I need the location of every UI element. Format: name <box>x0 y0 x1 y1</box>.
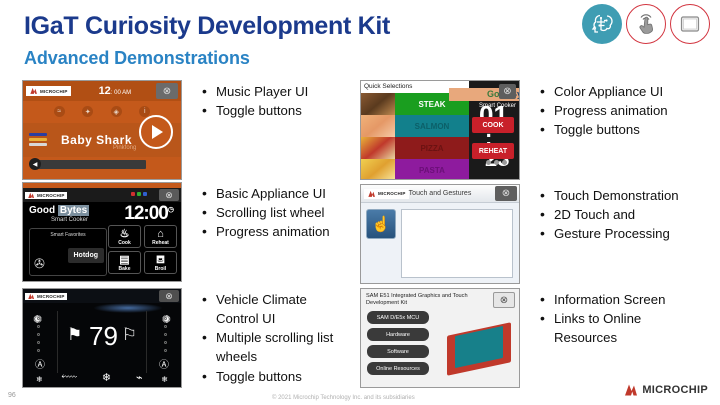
copyright-notice: © 2021 Microchip Technology Inc. and its… <box>272 395 415 401</box>
list-item: Basic Appliance UI <box>200 184 330 203</box>
status-dots <box>131 192 147 196</box>
grill-icon: ⛾ <box>156 255 165 266</box>
list-item-label: PIZZA <box>395 137 469 159</box>
cook-button[interactable]: COOK <box>472 117 514 133</box>
broil-tile[interactable]: ⛾Broil <box>144 251 177 274</box>
hotdog-icon: ✇ <box>34 256 45 272</box>
defrost-icon[interactable]: ❄ <box>102 371 111 384</box>
volume-slider[interactable]: ◀ <box>31 160 146 169</box>
list-item[interactable]: SALMON <box>361 115 469 137</box>
auto-left-icon[interactable]: Ⓐ <box>35 356 45 371</box>
demo-row-3-right: SAM E51 Integrated Graphics and Touch De… <box>360 288 708 388</box>
demo-row-3-left: MICROCHIP ⊗ ✺ ✺ Ⓐ Ⓐ ❄ ❄ ⚑ ⚐ 79 ⬳ <box>22 288 362 388</box>
touch-gestures-thumbnail[interactable]: MICROCHIP Touch and Gestures ⊗ ☝ <box>360 184 520 284</box>
list-item[interactable]: PIZZA <box>361 137 469 159</box>
demo-row-2-left: MICROCHIP ⊗ Good Bytes Smart Cooker 12:0… <box>22 182 330 282</box>
brain-intelligence-icon <box>582 4 622 44</box>
food-thumb-icon <box>361 159 395 180</box>
list-item: Color Appliance UI <box>538 82 668 101</box>
reheat-icon: ⌂ <box>157 229 164 240</box>
clock-display: 12:00◷ <box>124 203 173 225</box>
close-icon[interactable]: ⊗ <box>493 292 515 308</box>
bullet-list-basic-appliance: Basic Appliance UI Scrolling list wheel … <box>200 182 330 282</box>
person-right-icon: ⚐ <box>122 325 137 345</box>
list-item: Progress animation <box>538 101 668 120</box>
demo-row-1-left: MICROCHIP 12: 00 AM ⊗ ≈ ✦ ◈ i Baby Shark <box>22 80 308 180</box>
board-photo <box>443 321 515 373</box>
list-item: Multiple scrolling listwheels <box>200 328 362 366</box>
bullet-list-touch-gestures: Touch Demonstration 2D Touch and Gesture… <box>538 184 679 284</box>
window-title: SAM E51 Integrated Graphics and Touch De… <box>366 293 471 308</box>
page-subtitle: Advanced Demonstrations <box>24 48 250 69</box>
fan-speed-left-wheel[interactable] <box>37 317 40 352</box>
hand-pointer-icon: ☝ <box>372 215 391 233</box>
signal-icon[interactable]: ◈ <box>111 106 122 117</box>
favorites-label: Smart Favorites <box>30 229 106 238</box>
navigation-buttons[interactable]: SAM D/E5x MCU Hardware Software Online R… <box>367 311 429 375</box>
list-item-label: PASTA <box>395 159 469 180</box>
bake-tile[interactable]: ▤Bake <box>108 251 141 274</box>
clock-icon: ◷ <box>168 207 173 214</box>
bullet-list-information-screen: Information Screen Links to OnlineResour… <box>538 288 708 388</box>
climate-controls[interactable]: ⬳ ❄ ⌁ <box>49 371 155 384</box>
bullet-list-vehicle-climate: Vehicle ClimateControl UI Multiple scrol… <box>200 288 362 388</box>
list-item: Scrolling list wheel <box>200 203 330 222</box>
list-item: Touch Demonstration <box>538 186 679 205</box>
seat-heater-icon[interactable]: ⌁ <box>136 371 143 384</box>
divider <box>57 311 58 373</box>
volume-icon: ◀ <box>29 158 41 170</box>
snowflake-left-icon[interactable]: ❄ <box>36 375 43 384</box>
bluetooth-icon[interactable]: ✦ <box>82 106 93 117</box>
close-icon[interactable]: ⊗ <box>499 84 516 99</box>
food-thumb-icon <box>361 115 395 137</box>
online-resources-button[interactable]: Online Resources <box>367 362 429 375</box>
smart-cooker-label: Smart Cooker <box>51 217 88 223</box>
close-icon[interactable]: ⊗ <box>159 290 179 302</box>
food-thumb-icon <box>361 137 395 159</box>
selected-food-label[interactable]: Hotdog <box>68 248 105 263</box>
ac-icon[interactable]: ⬳ <box>61 371 77 384</box>
header-badges <box>582 4 710 44</box>
sam-mcu-button[interactable]: SAM D/E5x MCU <box>367 311 429 324</box>
hardware-button[interactable]: Hardware <box>367 328 429 341</box>
food-list[interactable]: STEAK SALMON PIZZA PASTA <box>361 93 469 179</box>
auto-right-icon[interactable]: Ⓐ <box>159 356 169 371</box>
reheat-button[interactable]: REHEAT <box>472 143 514 159</box>
snowflake-right-icon[interactable]: ❄ <box>161 375 168 384</box>
bullet-list-color-appliance: Color Appliance UI Progress animation To… <box>538 80 668 180</box>
demo-row-1-right: Quick Selections STEAK SALMON PIZZA <box>360 80 668 180</box>
clock-time: 12: 00 AM <box>99 85 132 97</box>
music-player-thumbnail[interactable]: MICROCHIP 12: 00 AM ⊗ ≈ ✦ ◈ i Baby Shark <box>22 80 182 180</box>
information-screen-thumbnail[interactable]: SAM E51 Integrated Graphics and Touch De… <box>360 288 520 388</box>
play-button[interactable] <box>139 115 173 149</box>
display-screen-icon <box>670 4 710 44</box>
slide-number: 96 <box>8 392 16 399</box>
list-item-label: SALMON <box>395 115 469 137</box>
close-icon[interactable]: ⊗ <box>156 83 178 99</box>
oven-icon: ▤ <box>119 255 129 266</box>
cooking-mode-tiles[interactable]: ♨Cook ⌂Reheat ▤Bake ⛾Broil <box>108 225 177 274</box>
song-artist: Pinkfong <box>113 145 136 151</box>
microchip-wordmark: MICROCHIP <box>642 384 708 396</box>
equalizer-icon <box>29 133 47 148</box>
color-appliance-thumbnail[interactable]: Quick Selections STEAK SALMON PIZZA <box>360 80 520 180</box>
favorites-panel[interactable]: Smart Favorites ✇ Hotdog <box>29 228 107 276</box>
microchip-wordmark: MICROCHIP <box>40 89 68 94</box>
microchip-logo: MICROCHIP <box>25 192 67 199</box>
microchip-logo: MICROCHIP <box>25 293 67 300</box>
microchip-logo: MICROCHIP <box>26 86 71 96</box>
list-item: Information Screen <box>538 290 708 309</box>
brand-label: Good Bytes <box>29 205 89 216</box>
list-item: Progress animation <box>200 222 330 241</box>
microchip-wordmark: MICROCHIP <box>37 193 65 198</box>
fan-speed-right-wheel[interactable] <box>164 317 167 352</box>
microchip-footer-logo: MICROCHIP <box>623 383 708 397</box>
basic-appliance-thumbnail[interactable]: MICROCHIP ⊗ Good Bytes Smart Cooker 12:0… <box>22 182 182 282</box>
vehicle-climate-thumbnail[interactable]: MICROCHIP ⊗ ✺ ✺ Ⓐ Ⓐ ❄ ❄ ⚑ ⚐ 79 ⬳ <box>22 288 182 388</box>
close-icon[interactable]: ⊗ <box>159 189 179 201</box>
gesture-canvas[interactable] <box>401 209 513 278</box>
wifi-icon[interactable]: ≈ <box>54 106 65 117</box>
slide: IGaT Curiosity Development Kit Advanced … <box>0 0 720 405</box>
ambient-glow <box>93 303 163 313</box>
pot-icon: ♨ <box>120 229 130 240</box>
temperature-display: 79 <box>89 321 118 352</box>
list-item[interactable]: PASTA <box>361 159 469 180</box>
page-dots[interactable] <box>486 160 507 165</box>
bullet-list-music-player: Music Player UI Toggle buttons <box>200 80 308 180</box>
page-title: IGaT Curiosity Development Kit <box>24 12 390 41</box>
list-item: Vehicle ClimateControl UI <box>200 290 362 328</box>
microchip-wordmark: MICROCHIP <box>37 294 65 299</box>
list-item: Music Player UI <box>200 82 308 101</box>
list-item: Toggle buttons <box>200 367 362 386</box>
list-item: 2D Touch and <box>538 205 679 224</box>
close-icon[interactable]: ⊗ <box>495 186 517 201</box>
divider <box>146 311 147 373</box>
list-item-continuation: Gesture Processing <box>538 224 679 243</box>
list-item: Toggle buttons <box>538 120 668 139</box>
touch-finger-icon <box>626 4 666 44</box>
person-left-icon: ⚑ <box>67 325 82 345</box>
reheat-tile[interactable]: ⌂Reheat <box>144 225 177 248</box>
gesture-demo-thumbnail[interactable]: ☝ <box>366 209 396 239</box>
list-item: Links to OnlineResources <box>538 309 708 347</box>
food-thumb-icon <box>361 93 395 115</box>
cook-tile[interactable]: ♨Cook <box>108 225 141 248</box>
software-button[interactable]: Software <box>367 345 429 358</box>
demo-row-2-right: MICROCHIP Touch and Gestures ⊗ ☝ Touch D… <box>360 184 679 284</box>
list-item: Toggle buttons <box>200 101 308 120</box>
